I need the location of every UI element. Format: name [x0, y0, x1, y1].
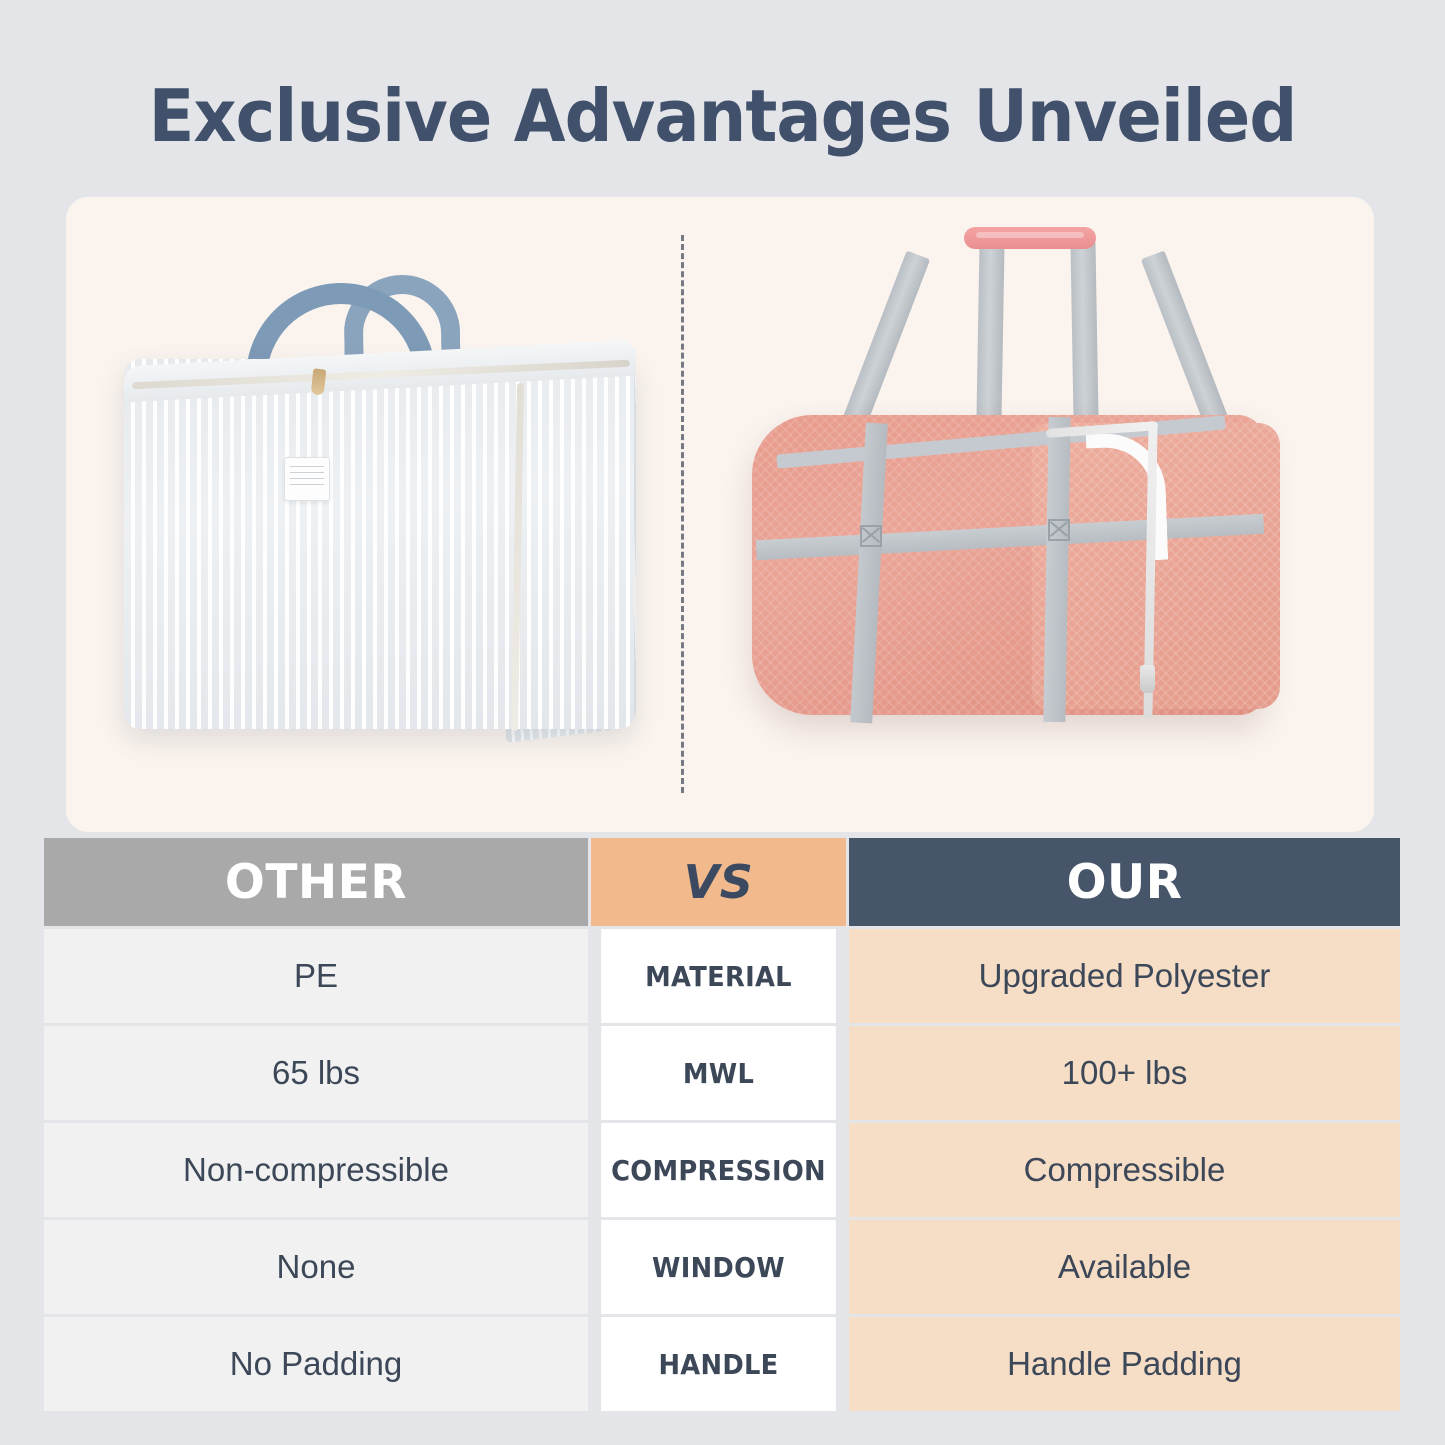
table-row: No Padding HANDLE Handle Padding: [44, 1317, 1400, 1411]
other-brand-bag-image: [106, 257, 666, 777]
bag-strap-right-outer: [1141, 251, 1232, 437]
cell-other: PE: [44, 929, 588, 1023]
bag-strap-left-outer: [839, 251, 930, 437]
product-comparison-panel: [66, 197, 1374, 832]
column-header-other: OTHER: [44, 838, 588, 926]
column-header-vs: VS: [591, 838, 846, 926]
cell-other: No Padding: [44, 1317, 588, 1411]
comparison-table: OTHER VS OUR PE MATERIAL Upgraded Polyes…: [44, 838, 1400, 1411]
cell-our: Compressible: [849, 1123, 1400, 1217]
table-row: 65 lbs MWL 100+ lbs: [44, 1026, 1400, 1120]
vertical-dashed-divider: [681, 235, 684, 793]
cell-our: Handle Padding: [849, 1317, 1400, 1411]
bag-body: [124, 359, 634, 729]
page-title: Exclusive Advantages Unveiled: [51, 74, 1395, 158]
table-row: None WINDOW Available: [44, 1220, 1400, 1314]
cell-feature: WINDOW: [601, 1220, 836, 1314]
cell-feature: MATERIAL: [601, 929, 836, 1023]
x-stitch-icon: [1048, 519, 1070, 541]
table-row: Non-compressible COMPRESSION Compressibl…: [44, 1123, 1400, 1217]
cell-other: 65 lbs: [44, 1026, 588, 1120]
zipper-pull-icon: [1140, 665, 1155, 693]
cell-other: None: [44, 1220, 588, 1314]
column-header-our: OUR: [849, 838, 1400, 926]
x-stitch-icon: [860, 525, 882, 547]
padded-handle-grip: [964, 227, 1096, 249]
cell-feature: MWL: [601, 1026, 836, 1120]
table-header-row: OTHER VS OUR: [44, 838, 1400, 926]
cell-our: Available: [849, 1220, 1400, 1314]
cell-feature: HANDLE: [601, 1317, 836, 1411]
cell-our: 100+ lbs: [849, 1026, 1400, 1120]
bag-id-label-card: [284, 457, 330, 501]
our-brand-bag-image: [716, 227, 1346, 787]
bag-strap-right-inner: [1070, 241, 1098, 421]
bag-strap-left-inner: [976, 241, 1004, 421]
cell-feature: COMPRESSION: [601, 1123, 836, 1217]
cell-other: Non-compressible: [44, 1123, 588, 1217]
table-row: PE MATERIAL Upgraded Polyester: [44, 929, 1400, 1023]
cell-our: Upgraded Polyester: [849, 929, 1400, 1023]
